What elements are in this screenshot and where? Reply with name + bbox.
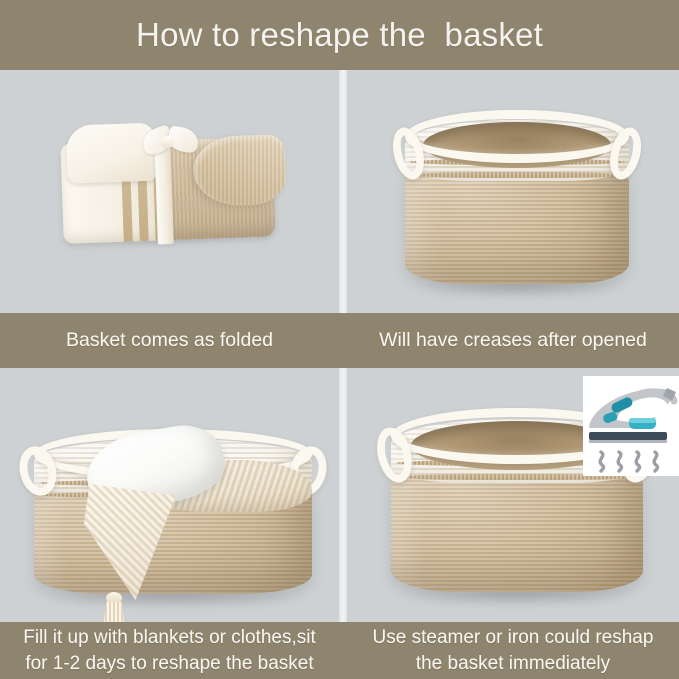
caption-line-1: Use steamer or iron could reshap — [373, 627, 654, 648]
step-4-caption: Use steamer or iron could reshap the bas… — [347, 622, 679, 679]
caption-line-2: for 1-2 days to reshape the basket — [25, 653, 313, 674]
caption-text: Basket comes as folded — [66, 328, 273, 354]
caption-line-2: the basket immediately — [416, 653, 610, 674]
step-3-image — [0, 368, 339, 622]
blanket-tassel — [102, 592, 126, 622]
basket-tan-stripe — [409, 172, 624, 178]
folded-basket-illustration — [60, 118, 285, 261]
step-4-image — [347, 368, 679, 622]
rope-basket-filled — [34, 426, 312, 594]
folded-top-flap — [66, 123, 156, 184]
caption-line-1: Fill it up with blankets or clothes,sit — [23, 627, 316, 648]
caption-text: Fill it up with blankets or clothes,sit … — [23, 625, 316, 675]
reshape-basket-infographic: How to reshape the basket — [0, 0, 679, 679]
step-2-caption: Will have creases after opened — [347, 313, 679, 368]
column-divider — [339, 70, 347, 313]
caption-text: Use steamer or iron could reshap the bas… — [373, 625, 654, 675]
step-1-image — [0, 70, 339, 313]
step-2-image — [347, 70, 679, 313]
basket-rim — [405, 110, 629, 163]
column-divider — [339, 368, 347, 622]
caption-text: Will have creases after opened — [379, 328, 647, 354]
page-title: How to reshape the basket — [136, 16, 543, 54]
step-1-caption: Basket comes as folded — [0, 313, 339, 368]
caption-separator — [339, 622, 347, 679]
tassel-fringe — [103, 602, 125, 622]
caption-separator — [339, 313, 347, 368]
steam-iron-icon — [583, 376, 679, 476]
step-3-caption: Fill it up with blankets or clothes,sit … — [0, 622, 339, 679]
rope-basket-creased — [405, 106, 629, 284]
header-bar: How to reshape the basket — [0, 0, 679, 70]
